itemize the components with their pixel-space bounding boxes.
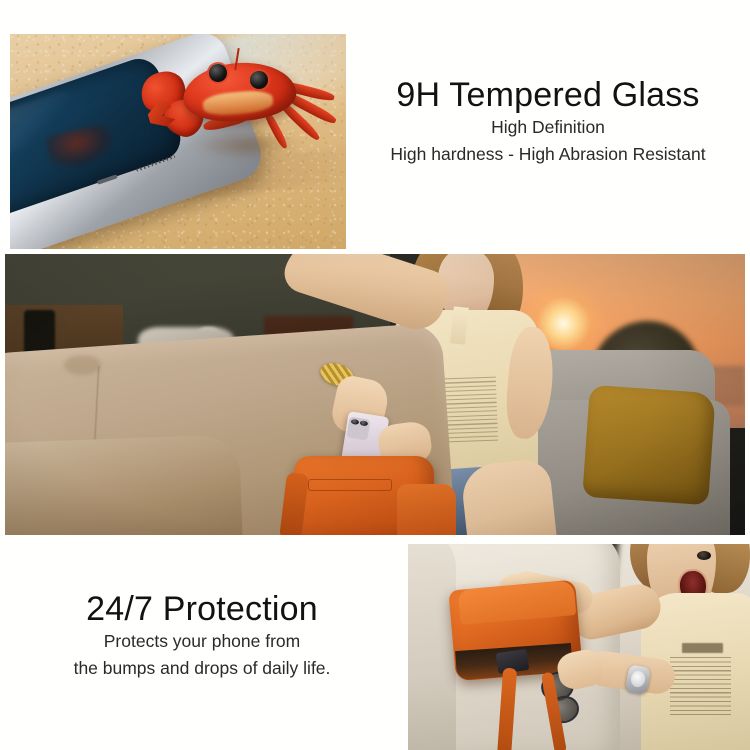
tempered-glass-subline-2: High hardness - High Abrasion Resistant xyxy=(352,141,744,168)
shirt-print-text xyxy=(670,657,732,715)
red-crab xyxy=(144,45,339,183)
crab-photo-panel xyxy=(10,34,346,249)
sofa-photo-panel xyxy=(5,254,745,535)
crab-eye xyxy=(250,71,269,89)
protection-text-block: 24/7 Protection Protects your phone from… xyxy=(12,590,392,682)
collage-stage: 9H Tempered Glass High Definition High h… xyxy=(0,0,750,750)
spill-photo-panel xyxy=(408,544,750,750)
protection-subline-1: Protects your phone from xyxy=(12,628,392,655)
tempered-glass-headline: 9H Tempered Glass xyxy=(352,76,744,114)
crab-eye xyxy=(209,64,228,82)
tempered-glass-text-block: 9H Tempered Glass High Definition High h… xyxy=(352,76,744,168)
crab-shadow xyxy=(191,130,304,160)
sofa-armrest-left xyxy=(408,544,456,750)
shirt-logo xyxy=(682,643,723,653)
protection-subline-2: the bumps and drops of daily life. xyxy=(12,655,392,682)
protection-headline: 24/7 Protection xyxy=(12,590,392,628)
photo-vignette xyxy=(5,254,745,535)
tempered-glass-subline-1: High Definition xyxy=(352,114,744,141)
